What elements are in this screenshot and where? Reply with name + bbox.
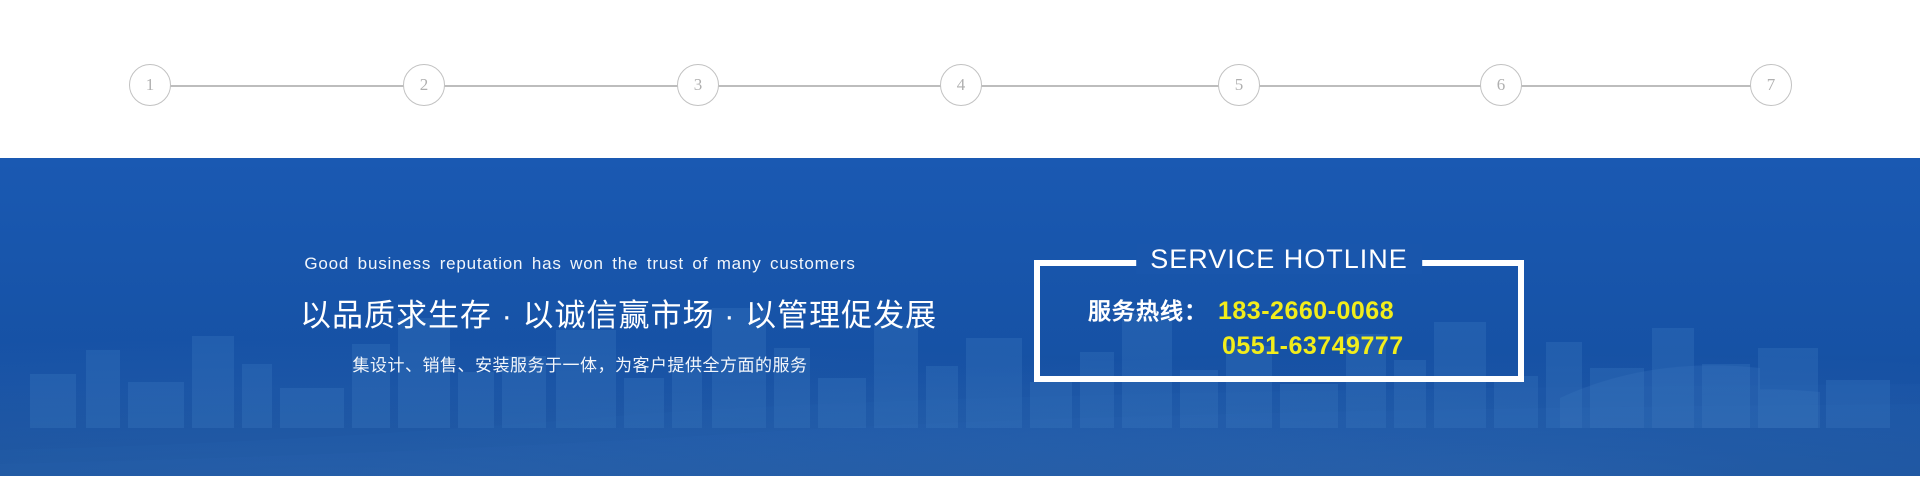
step-item-1[interactable]: 1 xyxy=(129,64,171,106)
hotline-number-secondary[interactable]: 0551-63749777 xyxy=(1222,332,1404,361)
hotline-number-primary[interactable]: 183-2660-0068 xyxy=(1218,297,1394,326)
step-label: 6 xyxy=(1497,75,1506,94)
pagination-strip: 1 2 3 4 5 6 7 xyxy=(0,0,1920,158)
step-label: 5 xyxy=(1235,75,1244,94)
step-label: 3 xyxy=(694,75,703,94)
step-label: 1 xyxy=(146,75,155,94)
step-item-3[interactable]: 3 xyxy=(677,64,719,106)
service-hotline-title: SERVICE HOTLINE xyxy=(1136,244,1422,274)
step-item-7[interactable]: 7 xyxy=(1750,64,1792,106)
hotline-number-list: 服务热线： 183-2660-0068 0551-63749777 xyxy=(1040,292,1518,361)
slogan-chinese-sub: 集设计、销售、安装服务于一体，为客户提供全方面的服务 xyxy=(300,351,860,376)
step-item-6[interactable]: 6 xyxy=(1480,64,1522,106)
promo-banner: Good business reputation has won the tru… xyxy=(0,158,1920,476)
slogan-english: Good business reputation has won the tru… xyxy=(300,254,860,274)
footer-spacer xyxy=(0,476,1920,500)
step-label: 4 xyxy=(957,75,966,94)
page-root: 1 2 3 4 5 6 7 xyxy=(0,0,1920,500)
sky-gradient-overlay xyxy=(0,158,1920,476)
hotline-row-primary: 服务热线： 183-2660-0068 xyxy=(1040,292,1518,326)
step-item-2[interactable]: 2 xyxy=(403,64,445,106)
step-item-4[interactable]: 4 xyxy=(940,64,982,106)
service-hotline-box: SERVICE HOTLINE 服务热线： 183-2660-0068 0551… xyxy=(1034,260,1524,382)
slogan-chinese-main: 以品质求生存 · 以诚信赢市场 · 以管理促发展 xyxy=(300,290,860,335)
step-label: 2 xyxy=(420,75,429,94)
step-item-5[interactable]: 5 xyxy=(1218,64,1260,106)
cityscape-skyline-graphic xyxy=(0,278,1920,428)
roadway-graphic xyxy=(0,384,1920,476)
step-label: 7 xyxy=(1767,75,1776,94)
hotline-row-secondary: 0551-63749777 xyxy=(1040,332,1518,361)
hotline-label: 服务热线： xyxy=(1088,292,1208,326)
slogan-block: Good business reputation has won the tru… xyxy=(300,254,860,376)
